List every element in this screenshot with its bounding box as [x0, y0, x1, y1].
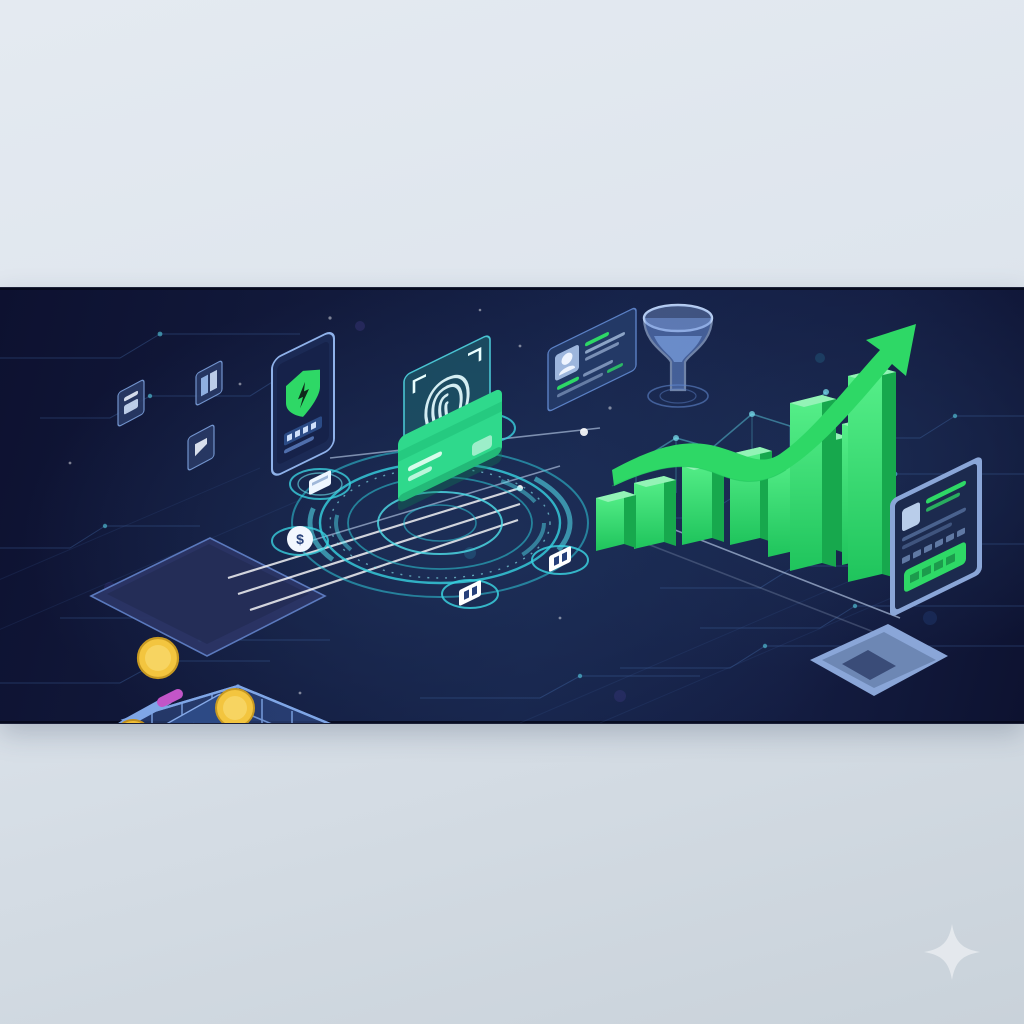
- marketing-banner: $ $: [0, 288, 1024, 723]
- sparkle-star-icon: [922, 922, 982, 982]
- screenshot-canvas: $ $: [0, 0, 1024, 1024]
- laptop-icon: [0, 288, 1024, 723]
